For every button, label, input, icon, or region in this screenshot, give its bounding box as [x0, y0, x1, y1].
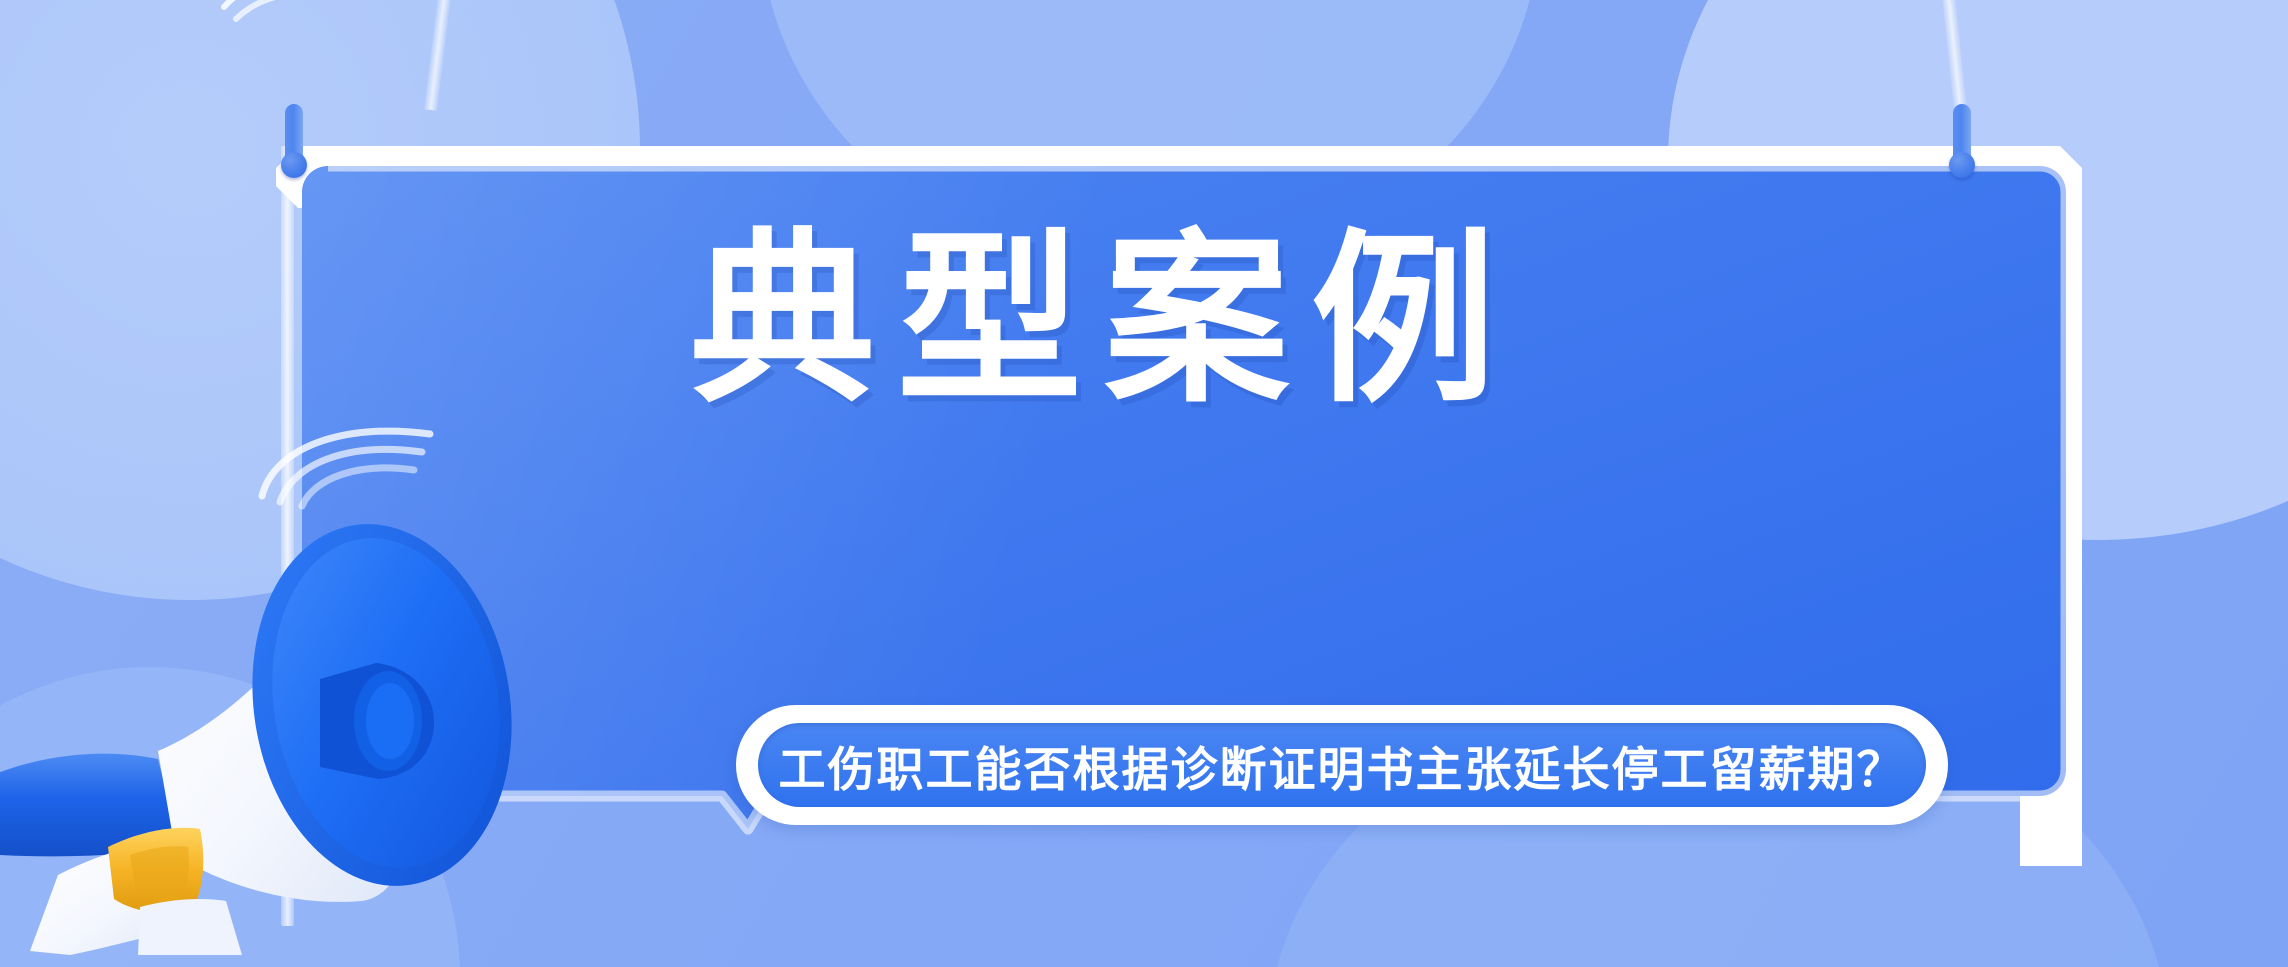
subtitle-text: 工伤职工能否根据诊断证明书主张延长停工留薪期？	[779, 731, 1906, 800]
subtitle-pill-inner: 工伤职工能否根据诊断证明书主张延长停工留薪期？	[758, 723, 1926, 807]
megaphone-base	[138, 899, 242, 955]
megaphone-mouth-inner	[366, 683, 414, 759]
sound-wave-icon-bottom	[250, 400, 440, 510]
pin-icon-right	[1949, 104, 1975, 178]
pin-head	[1949, 152, 1975, 178]
page-title: 典型案例	[690, 228, 1770, 413]
sound-wave-icon-top	[218, 0, 348, 25]
banner-stage: 典型案例 工伤职工能否根据诊断证明书主张延长停工留薪期？	[0, 0, 2288, 967]
sound-wave-icon-right	[1280, 800, 1500, 920]
pin-head	[281, 152, 307, 178]
megaphone-icon	[0, 455, 520, 955]
pin-icon-left	[281, 104, 307, 178]
